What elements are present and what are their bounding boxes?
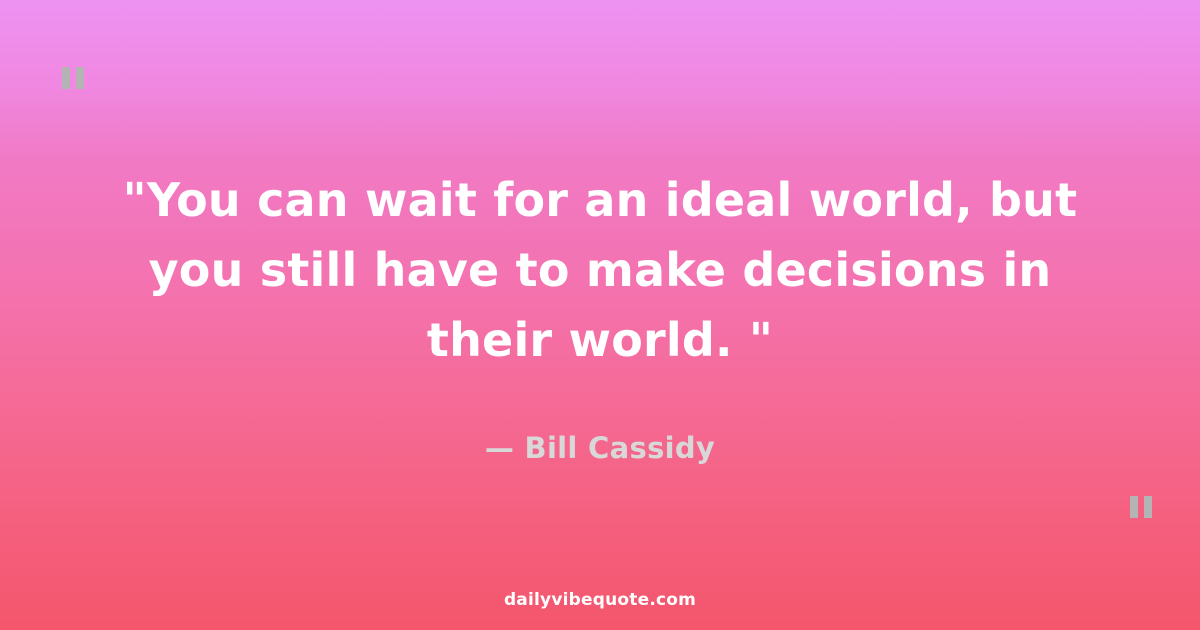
quotation-mark-icon-bottom-right (1130, 496, 1152, 518)
quote-card: "You can wait for an ideal world, but yo… (0, 0, 1200, 630)
site-footer-url: dailyvibequote.com (0, 590, 1200, 610)
quote-text: "You can wait for an ideal world, but yo… (70, 165, 1130, 375)
quotation-bar-right (1144, 496, 1152, 518)
quotation-bar-left (1130, 496, 1138, 518)
quote-author: — Bill Cassidy (485, 431, 715, 465)
quote-content: "You can wait for an ideal world, but yo… (0, 0, 1200, 630)
